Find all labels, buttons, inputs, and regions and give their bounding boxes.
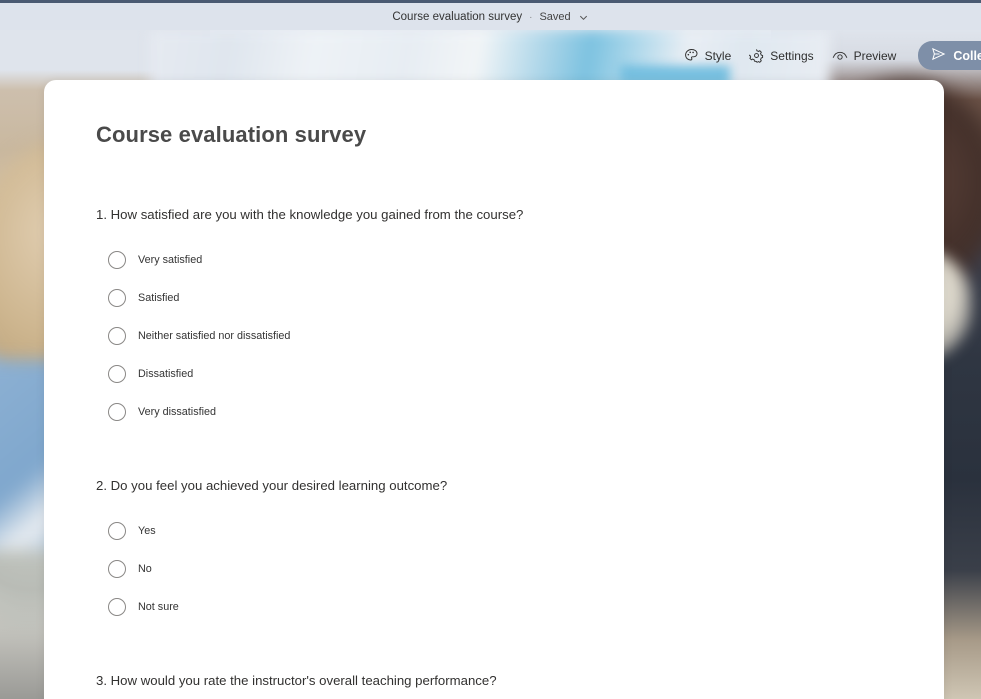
option-row[interactable]: Not sure bbox=[108, 588, 892, 626]
radio-icon[interactable] bbox=[108, 365, 126, 383]
option-row[interactable]: Very satisfied bbox=[108, 241, 892, 279]
document-title: Course evaluation survey bbox=[392, 11, 522, 23]
option-row[interactable]: No bbox=[108, 550, 892, 588]
save-status: Saved bbox=[539, 11, 570, 23]
question-1-text[interactable]: 1. How satisfied are you with the knowle… bbox=[96, 206, 892, 224]
option-label: Dissatisfied bbox=[138, 368, 193, 380]
eye-icon bbox=[832, 49, 848, 62]
option-label: Not sure bbox=[138, 601, 179, 613]
style-button-label: Style bbox=[705, 49, 732, 63]
radio-icon[interactable] bbox=[108, 522, 126, 540]
question-2-text[interactable]: 2. Do you feel you achieved your desired… bbox=[96, 477, 892, 495]
option-label: Very dissatisfied bbox=[138, 406, 216, 418]
option-row[interactable]: Satisfied bbox=[108, 279, 892, 317]
option-label: Satisfied bbox=[138, 292, 179, 304]
form-title[interactable]: Course evaluation survey bbox=[96, 122, 892, 148]
chevron-down-icon[interactable] bbox=[578, 12, 589, 23]
question-2: 2. Do you feel you achieved your desired… bbox=[96, 477, 892, 626]
send-icon bbox=[931, 47, 946, 64]
radio-icon[interactable] bbox=[108, 327, 126, 345]
title-separator: · bbox=[529, 12, 532, 23]
radio-icon[interactable] bbox=[108, 403, 126, 421]
radio-icon[interactable] bbox=[108, 251, 126, 269]
option-label: Very satisfied bbox=[138, 254, 202, 266]
question-1: 1. How satisfied are you with the knowle… bbox=[96, 206, 892, 431]
option-row[interactable]: Neither satisfied nor dissatisfied bbox=[108, 317, 892, 355]
radio-icon[interactable] bbox=[108, 598, 126, 616]
question-2-options: Yes No Not sure bbox=[96, 512, 892, 626]
radio-icon[interactable] bbox=[108, 560, 126, 578]
toolbar: Style Settings Preview bbox=[684, 41, 981, 70]
option-row[interactable]: Yes bbox=[108, 512, 892, 550]
option-label: Neither satisfied nor dissatisfied bbox=[138, 330, 290, 342]
gear-icon bbox=[749, 48, 764, 63]
collect-button[interactable]: Collect bbox=[918, 41, 981, 70]
option-row[interactable]: Dissatisfied bbox=[108, 355, 892, 393]
question-3: 3. How would you rate the instructor's o… bbox=[96, 672, 892, 699]
form-canvas: Course evaluation survey 1. How satisfie… bbox=[44, 80, 944, 699]
preview-button[interactable]: Preview bbox=[832, 49, 897, 63]
question-3-text[interactable]: 3. How would you rate the instructor's o… bbox=[96, 672, 892, 690]
radio-icon[interactable] bbox=[108, 289, 126, 307]
option-row[interactable]: Very dissatisfied bbox=[108, 393, 892, 431]
settings-button-label: Settings bbox=[770, 49, 813, 63]
titlebar: Course evaluation survey · Saved bbox=[0, 0, 981, 34]
preview-button-label: Preview bbox=[854, 49, 897, 63]
palette-icon bbox=[684, 48, 699, 63]
question-1-options: Very satisfied Satisfied Neither satisfi… bbox=[96, 241, 892, 431]
option-label: No bbox=[138, 563, 152, 575]
style-button[interactable]: Style bbox=[684, 48, 732, 63]
settings-button[interactable]: Settings bbox=[749, 48, 813, 63]
collect-button-label: Collect bbox=[953, 49, 981, 63]
option-label: Yes bbox=[138, 525, 156, 537]
forms-designer-window: Course evaluation survey · Saved Style bbox=[0, 0, 981, 699]
